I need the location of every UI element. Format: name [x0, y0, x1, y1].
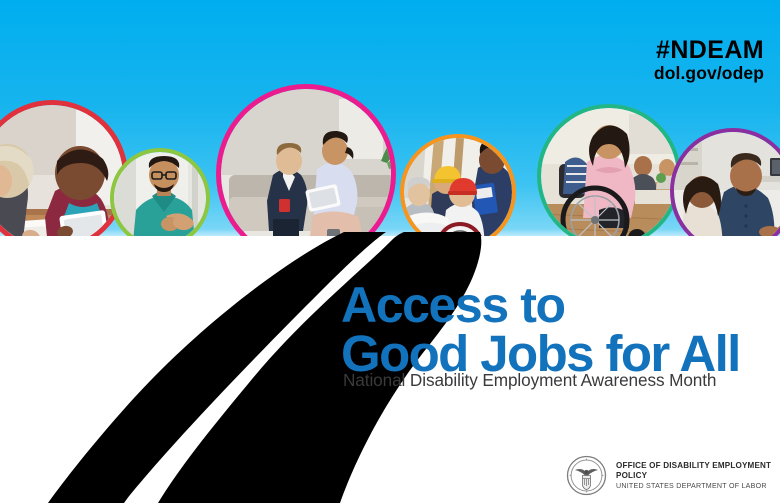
photo-couch-prosthetic-leg [221, 89, 391, 236]
photo-circle-lime [110, 148, 210, 236]
headline-line-1: Access to [341, 282, 771, 330]
photo-circle-orange [400, 134, 516, 236]
dol-eagle-seal-icon [566, 455, 607, 496]
agency-name: OFFICE OF DISABILITY EMPLOYMENT POLICY [616, 461, 780, 481]
photo-construction-blueprints [404, 138, 512, 236]
campaign-tag-block: #NDEAM dol.gov/odep [654, 38, 764, 82]
campaign-hashtag: #NDEAM [654, 38, 764, 64]
photo-man-signing-scrubs [114, 152, 206, 236]
photo-circle-teal [537, 104, 681, 236]
photo-two-women-tablet [0, 105, 123, 236]
header-band: #NDEAM dol.gov/odep [0, 0, 780, 236]
photo-circle-magenta [216, 84, 396, 236]
headline-block: Access to Good Jobs for All [341, 282, 771, 378]
photo-coworkers-computer [674, 132, 780, 236]
dol-logo-block: OFFICE OF DISABILITY EMPLOYMENT POLICY U… [566, 455, 780, 496]
photo-woman-wheelchair-office [541, 108, 677, 236]
dol-logo-text: OFFICE OF DISABILITY EMPLOYMENT POLICY U… [616, 461, 780, 490]
campaign-url[interactable]: dol.gov/odep [654, 65, 764, 83]
agency-parent: UNITED STATES DEPARTMENT OF LABOR [616, 482, 780, 491]
ndeam-poster: #NDEAM dol.gov/odep [0, 0, 780, 503]
photo-circle-purple [670, 128, 780, 236]
poster-subtitle: National Disability Employment Awareness… [343, 370, 716, 391]
photo-circle-red [0, 100, 128, 236]
